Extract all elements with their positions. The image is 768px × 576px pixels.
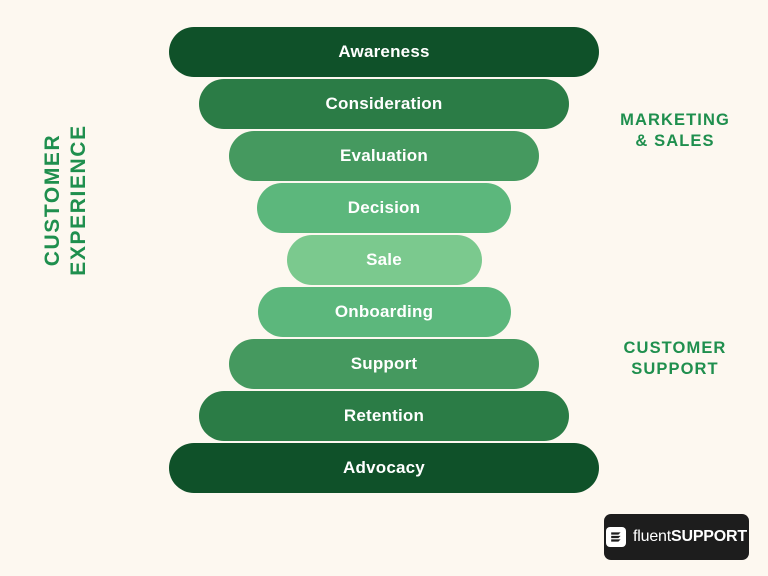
fluent-bolt-icon: [606, 527, 626, 547]
funnel-stage-decision[interactable]: Decision: [257, 183, 511, 233]
funnel-stage-evaluation[interactable]: Evaluation: [229, 131, 539, 181]
customer-journey-funnel: AwarenessConsiderationEvaluationDecision…: [0, 26, 768, 494]
group-caption-customer-support: CUSTOMER SUPPORT: [600, 338, 750, 381]
funnel-row: Awareness: [0, 26, 768, 78]
funnel-stage-label: Awareness: [338, 42, 429, 62]
funnel-row: Advocacy: [0, 442, 768, 494]
funnel-stage-retention[interactable]: Retention: [199, 391, 569, 441]
group-caption-marketing-and-sales: MARKETING & SALES: [600, 110, 750, 153]
infographic-canvas: CUSTOMER EXPERIENCE AwarenessConsiderati…: [0, 0, 768, 576]
logo-wordmark: fluentSUPPORT: [633, 528, 747, 546]
funnel-stage-label: Evaluation: [340, 146, 428, 166]
funnel-stage-consideration[interactable]: Consideration: [199, 79, 569, 129]
funnel-row: Retention: [0, 390, 768, 442]
funnel-row: Onboarding: [0, 286, 768, 338]
funnel-stage-sale[interactable]: Sale: [287, 235, 482, 285]
funnel-stage-label: Consideration: [326, 94, 443, 114]
fluent-support-logo: fluentSUPPORT: [604, 514, 749, 560]
funnel-stage-onboarding[interactable]: Onboarding: [258, 287, 511, 337]
funnel-row: Sale: [0, 234, 768, 286]
funnel-row: Decision: [0, 182, 768, 234]
funnel-stage-awareness[interactable]: Awareness: [169, 27, 599, 77]
funnel-stage-label: Sale: [366, 250, 402, 270]
funnel-stage-label: Decision: [348, 198, 420, 218]
funnel-stage-label: Retention: [344, 406, 424, 426]
funnel-stage-label: Support: [351, 354, 418, 374]
funnel-stage-label: Onboarding: [335, 302, 433, 322]
logo-word-support: SUPPORT: [671, 528, 747, 545]
logo-word-fluent: fluent: [633, 528, 671, 545]
funnel-stage-label: Advocacy: [343, 458, 425, 478]
funnel-stage-advocacy[interactable]: Advocacy: [169, 443, 599, 493]
funnel-stage-support[interactable]: Support: [229, 339, 539, 389]
